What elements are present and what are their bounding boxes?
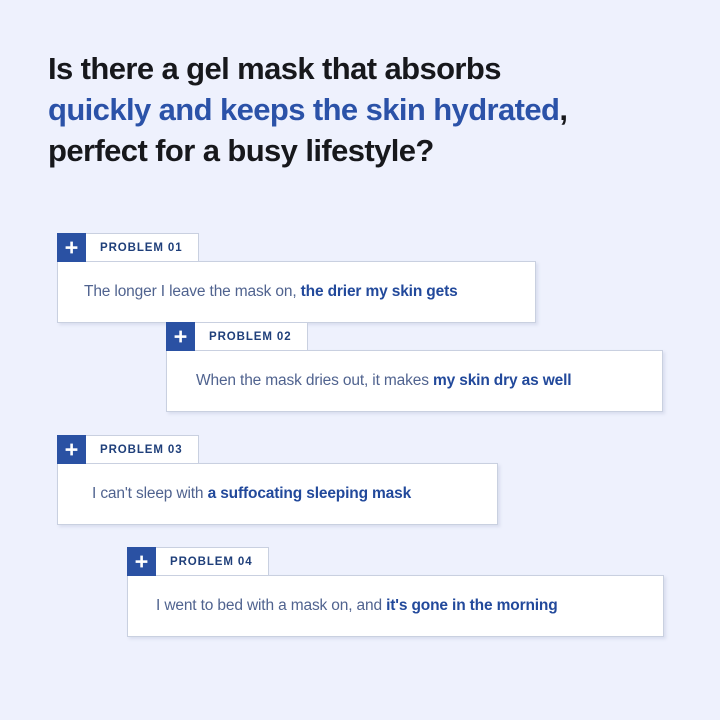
problem-text-bold-02: my skin dry as well [433,372,571,389]
headline-accent-text: quickly and keeps the skin hydrated [48,92,559,127]
problem-tab-label-04: PROBLEM 04 [156,547,269,576]
headline-line-2-tail: , [559,92,567,127]
page-title: Is there a gel mask that absorbs quickly… [48,48,688,171]
problem-text-01: The longer I leave the mask on, the drie… [84,282,458,301]
problem-text-normal-01: The longer I leave the mask on, [84,283,301,300]
headline-line-3: perfect for a busy lifestyle? [48,130,688,171]
page-root: Is there a gel mask that absorbs quickly… [0,0,720,720]
problem-text-02: When the mask dries out, it makes my ski… [196,371,571,390]
plus-icon [57,233,86,262]
problem-tab-03[interactable]: PROBLEM 03 [57,435,199,464]
problem-body-04: I went to bed with a mask on, and it's g… [127,575,664,637]
plus-icon [166,322,195,351]
problem-text-normal-04: I went to bed with a mask on, and [156,597,386,614]
problem-card-03[interactable]: PROBLEM 03 I can't sleep with a suffocat… [57,435,498,525]
problem-card-02[interactable]: PROBLEM 02 When the mask dries out, it m… [166,322,663,412]
plus-icon [57,435,86,464]
problem-text-normal-02: When the mask dries out, it makes [196,372,433,389]
problem-text-bold-03: a suffocating sleeping mask [208,485,412,502]
problem-card-04[interactable]: PROBLEM 04 I went to bed with a mask on,… [127,547,664,637]
problem-card-01[interactable]: PROBLEM 01 The longer I leave the mask o… [57,233,536,323]
problem-text-03: I can't sleep with a suffocating sleepin… [92,484,411,503]
problem-tab-label-01: PROBLEM 01 [86,233,199,262]
headline-line-1: Is there a gel mask that absorbs [48,48,688,89]
problem-text-normal-03: I can't sleep with [92,485,208,502]
problem-tab-01[interactable]: PROBLEM 01 [57,233,199,262]
problem-text-04: I went to bed with a mask on, and it's g… [156,596,558,615]
problem-text-bold-04: it's gone in the morning [386,597,557,614]
problem-tab-label-02: PROBLEM 02 [195,322,308,351]
problem-text-bold-01: the drier my skin gets [301,283,458,300]
problem-body-01: The longer I leave the mask on, the drie… [57,261,536,323]
problem-body-02: When the mask dries out, it makes my ski… [166,350,663,412]
problem-body-03: I can't sleep with a suffocating sleepin… [57,463,498,525]
problem-tab-02[interactable]: PROBLEM 02 [166,322,308,351]
plus-icon [127,547,156,576]
problem-tab-04[interactable]: PROBLEM 04 [127,547,269,576]
headline-line-2: quickly and keeps the skin hydrated, [48,89,688,130]
problem-tab-label-03: PROBLEM 03 [86,435,199,464]
